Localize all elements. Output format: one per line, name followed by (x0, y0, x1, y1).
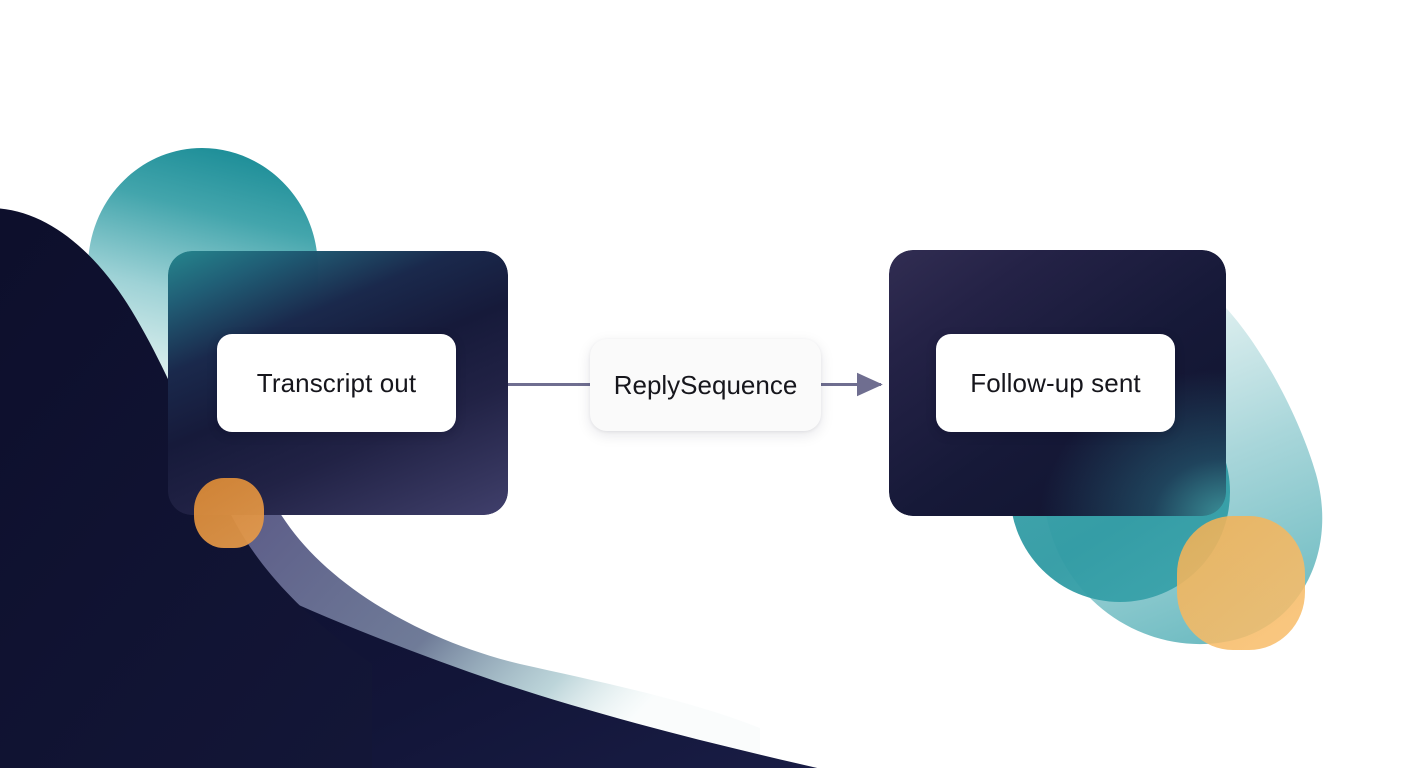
diagram-canvas: Transcript out ReplySequence Follow-up s… (0, 0, 1408, 768)
node-label-follow-up-sent[interactable]: Follow-up sent (936, 334, 1175, 432)
node-label-transcript-out[interactable]: Transcript out (217, 334, 456, 432)
node-label-text: Transcript out (257, 370, 416, 396)
edge-label-text: ReplySequence (614, 370, 798, 401)
edge-label-replysequence[interactable]: ReplySequence (590, 339, 821, 431)
flow-diagram: Transcript out ReplySequence Follow-up s… (0, 0, 1408, 768)
node-label-text: Follow-up sent (970, 370, 1140, 396)
